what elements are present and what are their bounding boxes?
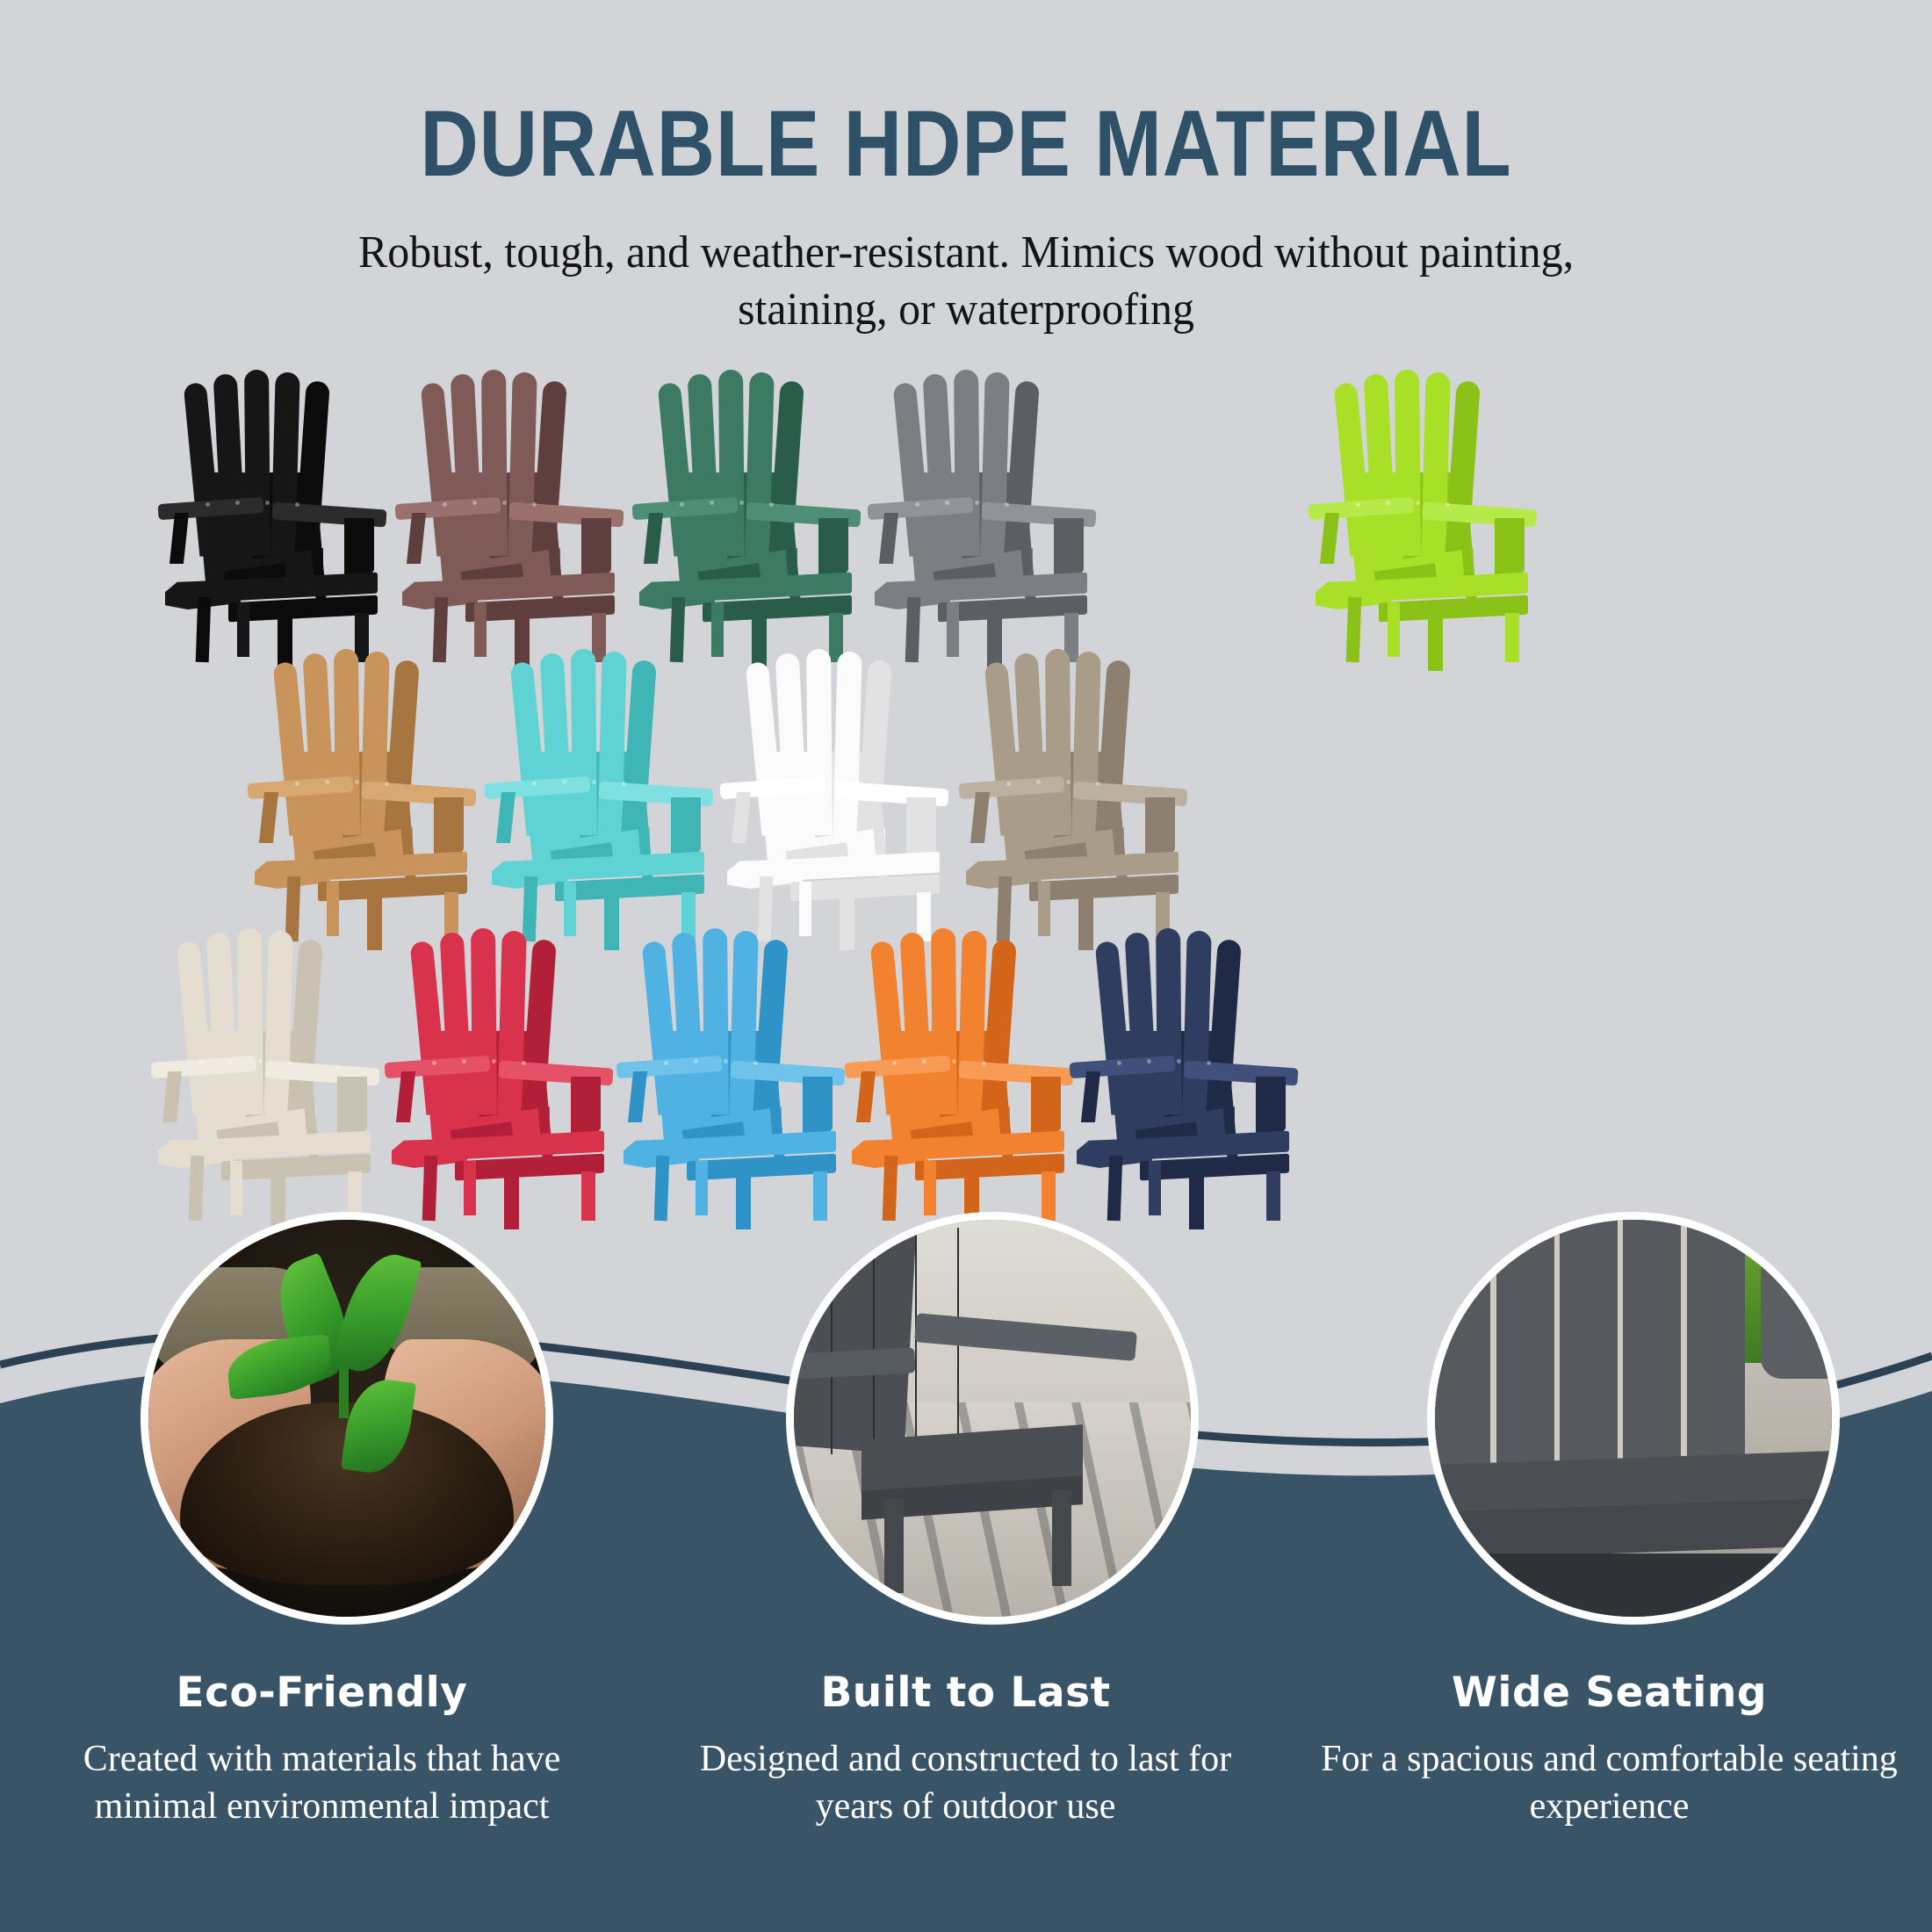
chair-swatch-turquoise[interactable] (467, 646, 731, 936)
back-slat (244, 370, 270, 556)
chair-back-slats (645, 926, 778, 1114)
armrest-far-support (496, 792, 515, 843)
armrest-far-support (644, 513, 663, 564)
screw-row (202, 499, 316, 513)
gray-adirondack-chair-on-patio-photo (794, 1220, 1191, 1617)
screw-row (764, 778, 878, 792)
chair-back-slats (1435, 1220, 1745, 1474)
gray-chair (786, 1228, 1151, 1593)
back-slat (237, 928, 263, 1114)
feature-title: Wide Seating (1319, 1669, 1900, 1717)
chair-row (0, 646, 1932, 926)
armrest-far-support (856, 1071, 876, 1122)
feature-photo-built-to-last (786, 1212, 1199, 1625)
chair-back-slats (423, 367, 557, 556)
chair-back-slats (513, 646, 646, 835)
back-slat (571, 649, 597, 835)
screw-row (676, 499, 790, 513)
chair-swatch-dark-green[interactable] (615, 367, 878, 657)
back-slat (481, 370, 508, 556)
chair-back-slats (276, 646, 409, 835)
feature-title: Built to Last (675, 1669, 1256, 1717)
header: DURABLE HDPE MATERIAL Robust, tough, and… (0, 0, 1932, 338)
feature-column-built-to-last: Built to LastDesigned and constructed to… (644, 1669, 1287, 1831)
slat-gap (873, 1228, 875, 1454)
slat-gap (1554, 1220, 1560, 1474)
chair-back-slats (896, 367, 1029, 556)
chair-back-slats (1337, 367, 1470, 556)
back-slat (1045, 649, 1071, 835)
chair-swatch-teak[interactable] (230, 646, 494, 936)
chair-swatch-navy-blue[interactable] (1052, 926, 1316, 1215)
screw-row (889, 1057, 1003, 1071)
armrest-far-support (879, 513, 898, 564)
back-slat (1156, 928, 1182, 1114)
feature-photo-wide-seating (1427, 1212, 1840, 1625)
adirondack-chair (827, 926, 1091, 1215)
slat-gap (831, 1228, 833, 1454)
chair-swatch-gray[interactable] (850, 367, 1114, 657)
chair-swatch-ivory[interactable] (133, 926, 397, 1215)
adirondack-chair (133, 926, 397, 1215)
back-slat (703, 928, 729, 1114)
back-slat (718, 370, 745, 556)
screw-row (529, 778, 643, 792)
back-slat (806, 649, 833, 835)
adirondack-chair (703, 646, 966, 936)
armrest-far-support (628, 1071, 647, 1122)
armrest-far-support (1320, 513, 1339, 564)
adirondack-chair (367, 926, 631, 1215)
chair-back-slats (987, 646, 1121, 835)
back-slat (334, 649, 360, 835)
chair-swatch-brown[interactable] (378, 367, 641, 657)
feature-column-eco-friendly: Eco-FriendlyCreated with materials that … (0, 1669, 644, 1831)
chair-row (0, 926, 1932, 1205)
adirondack-chair (467, 646, 731, 936)
feature-title: Eco-Friendly (32, 1669, 612, 1717)
chair-seat-closeup-photo (1435, 1220, 1832, 1617)
back-slat (471, 928, 497, 1114)
adirondack-chair (1052, 926, 1316, 1215)
screw-row (1003, 778, 1117, 792)
chair-back-slats (1098, 926, 1231, 1114)
back-slat (931, 928, 957, 1114)
page-subtitle: Robust, tough, and weather-resistant. Mi… (308, 191, 1624, 338)
chair-back-slats (660, 367, 794, 556)
slat-gap (1490, 1220, 1496, 1474)
feature-photo-eco-friendly (141, 1212, 553, 1625)
armrest-far-support (732, 792, 751, 843)
adirondack-chair (230, 646, 494, 936)
chair-back-slats (873, 926, 1006, 1114)
feature-photo-circles (0, 1203, 1932, 1642)
chair-back-slats (179, 926, 313, 1114)
armrest-far-support (169, 513, 189, 564)
armrest-far-support (396, 1071, 415, 1122)
feature-text-columns: Eco-FriendlyCreated with materials that … (0, 1669, 1932, 1831)
hands-holding-seedling-photo (148, 1220, 545, 1617)
chair-back-slats (186, 367, 320, 556)
adirondack-chair (1291, 367, 1554, 657)
shadow-under-seat (1435, 1554, 1832, 1617)
armrest-far-support (162, 1071, 182, 1122)
armrest-far-support (259, 792, 278, 843)
screw-row (1114, 1057, 1228, 1071)
chair-swatch-lime-green[interactable] (1291, 367, 1554, 657)
slat-gap (1681, 1220, 1686, 1474)
adirondack-chair (850, 367, 1114, 657)
screw-row (429, 1057, 543, 1071)
armrest-far-support (407, 513, 426, 564)
chair-swatch-black[interactable] (141, 367, 404, 657)
back-slat (1395, 370, 1421, 556)
back-slat (954, 370, 980, 556)
slat-gap (1618, 1220, 1623, 1474)
armrest-near (914, 1313, 1137, 1361)
chair-swatch-blue[interactable] (599, 926, 862, 1215)
feature-description: Created with materials that have minimal… (32, 1717, 612, 1831)
chair-swatch-khaki[interactable] (941, 646, 1205, 936)
screw-row (439, 499, 553, 513)
screw-row (292, 778, 406, 792)
armrest-far-support (970, 792, 990, 843)
adirondack-chair (615, 367, 878, 657)
screw-row (912, 499, 1026, 513)
feature-description: For a spacious and comfortable seating e… (1319, 1717, 1900, 1831)
armrest-far-support (1081, 1071, 1100, 1122)
infographic-canvas: DURABLE HDPE MATERIAL Robust, tough, and… (0, 0, 1932, 1932)
page-title: DURABLE HDPE MATERIAL (135, 0, 1797, 191)
chair-swatch-red[interactable] (367, 926, 631, 1215)
adirondack-chair (941, 646, 1205, 936)
chair-leg (1052, 1490, 1071, 1585)
adirondack-chair (599, 926, 862, 1215)
screw-row (660, 1057, 775, 1071)
armrest (1761, 1244, 1840, 1379)
chair-swatch-white[interactable] (703, 646, 966, 936)
chair-color-grid (0, 367, 1932, 1205)
chair-row (0, 367, 1932, 646)
adirondack-chair (141, 367, 404, 657)
adirondack-chair (378, 367, 641, 657)
chair-swatch-orange[interactable] (827, 926, 1091, 1215)
feature-description: Designed and constructed to last for yea… (675, 1717, 1256, 1831)
chair-back-slats (413, 926, 546, 1114)
screw-row (195, 1057, 309, 1071)
chair-back-slats (748, 646, 882, 835)
feature-column-wide-seating: Wide SeatingFor a spacious and comfortab… (1287, 1669, 1931, 1831)
screw-row (1352, 499, 1467, 513)
chair-leg (884, 1498, 904, 1593)
